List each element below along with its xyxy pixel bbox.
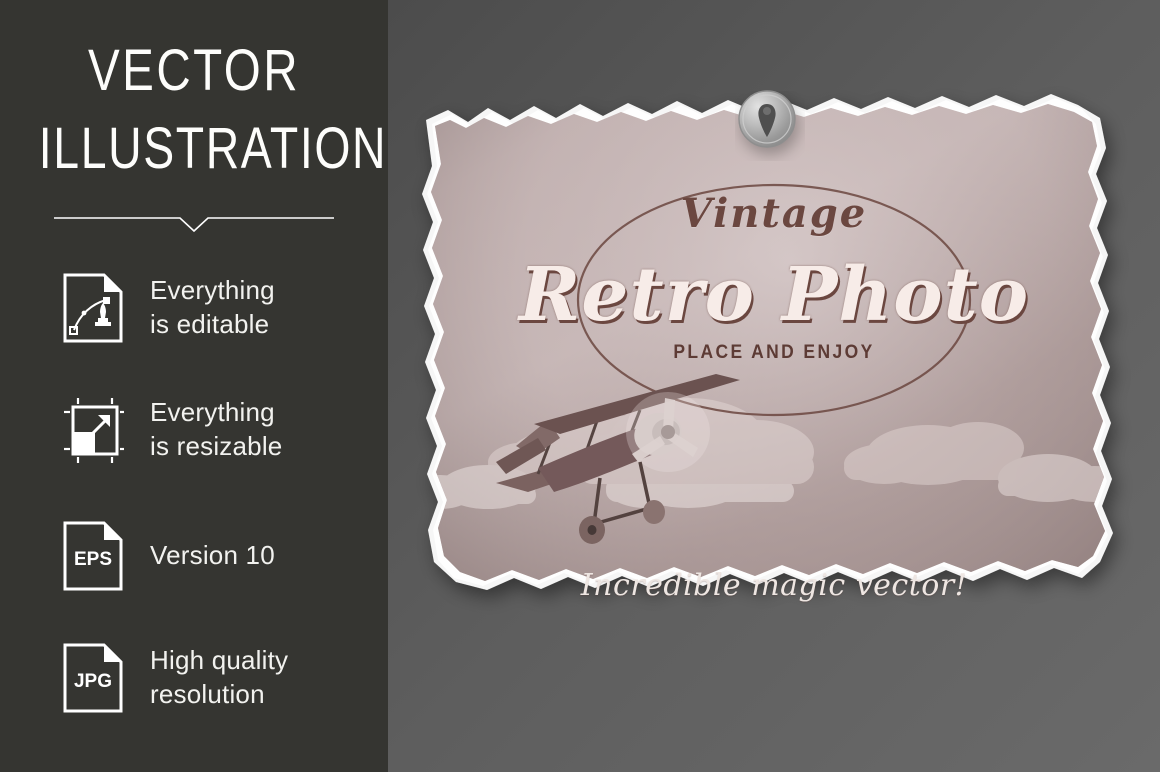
feature-label: Everything is resizable: [150, 396, 282, 464]
badge-subtitle: PLACE AND ENJOY: [419, 342, 1129, 364]
pen-tool-document-icon: [62, 272, 124, 344]
resize-crop-arrow-icon: [62, 394, 124, 466]
poster-canvas: VECTOR ILLUSTRATION Everything is editab…: [0, 0, 1160, 772]
feature-row-version: EPS Version 10: [62, 520, 382, 592]
feature-label: High quality resolution: [150, 644, 288, 712]
tagline-script: Incredible magic vector!: [388, 568, 1160, 603]
feature-row-editable: Everything is editable: [62, 272, 382, 344]
divider-chevron-icon: [54, 207, 334, 233]
torn-paper-sheet: [388, 0, 1160, 772]
title-line-illustration: ILLUSTRATION: [39, 120, 349, 178]
jpg-file-icon: JPG: [62, 642, 124, 714]
feature-label: Everything is editable: [150, 274, 275, 342]
jpg-icon-label: JPG: [74, 671, 112, 692]
artwork-scene: Vintage Retro Photo PLACE AND ENJOY Incr…: [388, 0, 1160, 772]
badge-script-vintage: Vintage: [388, 190, 1160, 237]
page-title: VECTOR ILLUSTRATION: [0, 42, 388, 178]
title-line-vector: VECTOR: [35, 42, 353, 100]
feature-label: Version 10: [150, 539, 275, 573]
eps-file-icon: EPS: [62, 520, 124, 592]
feature-row-resizable: Everything is resizable: [62, 394, 382, 466]
eps-icon-label: EPS: [74, 549, 112, 570]
badge-script-main: Retro Photo: [388, 252, 1160, 338]
info-sidebar: VECTOR ILLUSTRATION Everything is editab…: [0, 0, 388, 772]
feature-row-quality: JPG High quality resolution: [62, 642, 382, 714]
